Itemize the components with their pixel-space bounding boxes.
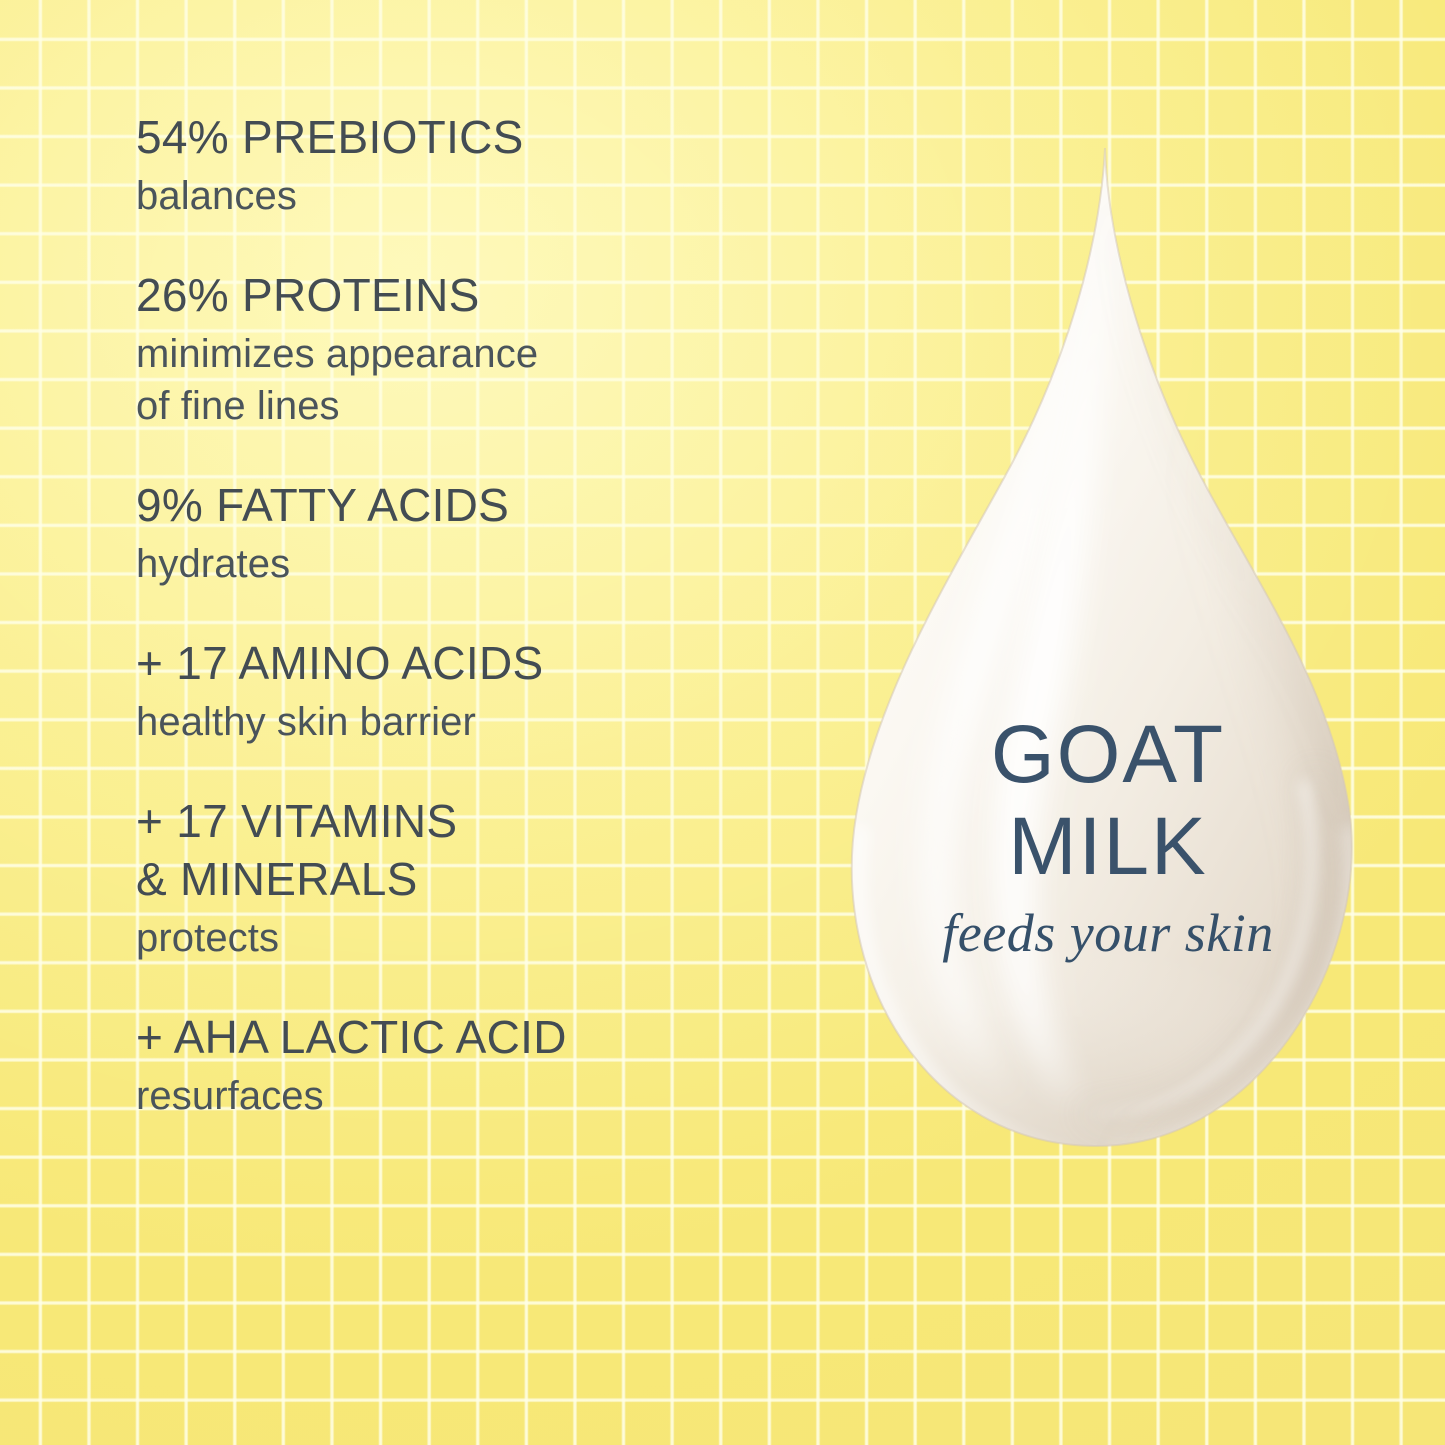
list-item: + 17 VITAMINS & MINERALS protects <box>136 792 836 964</box>
milk-droplet-graphic: GOAT MILK feeds your skin <box>808 130 1408 1170</box>
ingredient-benefit: hydrates <box>136 538 836 590</box>
ingredient-benefit: resurfaces <box>136 1070 836 1122</box>
ingredient-benefit: balances <box>136 170 836 222</box>
ingredient-heading: 9% FATTY ACIDS <box>136 476 836 534</box>
list-item: 9% FATTY ACIDS hydrates <box>136 476 836 590</box>
ingredient-heading: 54% PREBIOTICS <box>136 108 836 166</box>
ingredient-heading: 26% PROTEINS <box>136 266 836 324</box>
ingredient-benefit: healthy skin barrier <box>136 696 836 748</box>
list-item: + AHA LACTIC ACID resurfaces <box>136 1008 836 1122</box>
list-item: 26% PROTEINS minimizes appearance of fin… <box>136 266 836 432</box>
infographic-canvas: 54% PREBIOTICS balances 26% PROTEINS min… <box>0 0 1445 1445</box>
ingredient-heading: + AHA LACTIC ACID <box>136 1008 836 1066</box>
ingredient-heading: + 17 AMINO ACIDS <box>136 634 836 692</box>
milk-droplet-icon <box>808 130 1408 1170</box>
ingredient-benefit: protects <box>136 912 836 964</box>
list-item: 54% PREBIOTICS balances <box>136 108 836 222</box>
ingredient-heading: + 17 VITAMINS & MINERALS <box>136 792 836 908</box>
ingredient-list: 54% PREBIOTICS balances 26% PROTEINS min… <box>136 108 836 1122</box>
list-item: + 17 AMINO ACIDS healthy skin barrier <box>136 634 836 748</box>
ingredient-benefit: minimizes appearance of fine lines <box>136 328 836 432</box>
